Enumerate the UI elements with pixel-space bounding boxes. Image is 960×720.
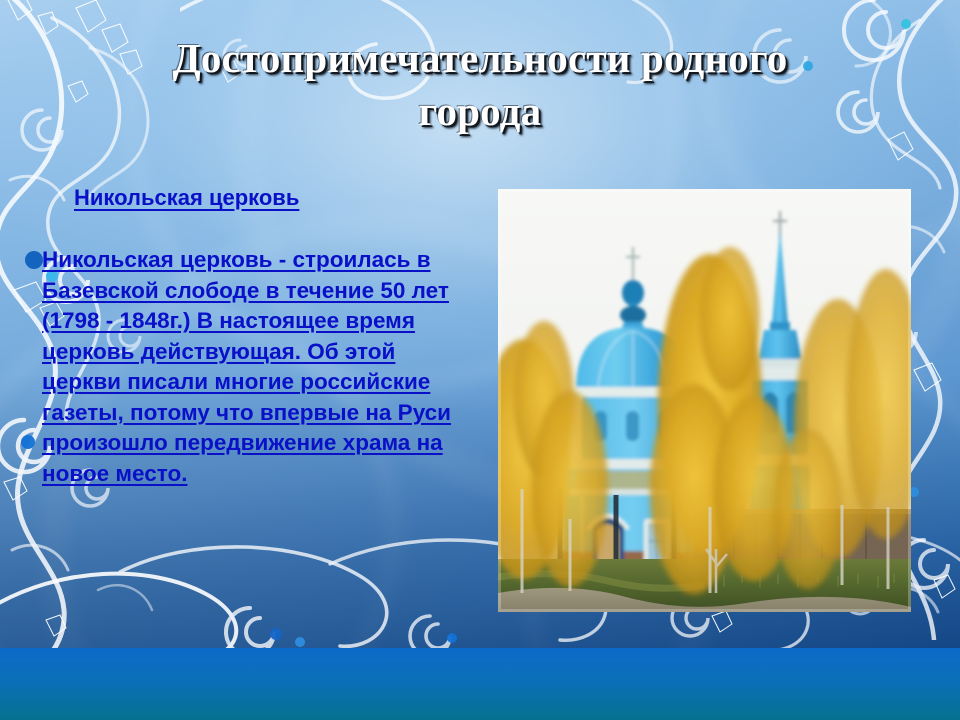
subheading-church-name[interactable]: Никольская церковь bbox=[74, 183, 299, 213]
slide-text-block: Никольская церковь Никольская церковь - … bbox=[42, 183, 472, 489]
church-photo-image bbox=[498, 189, 911, 612]
slide-title: Достопримечательности родного города bbox=[60, 32, 900, 138]
body-paragraph[interactable]: Никольская церковь - строилась в Базевск… bbox=[42, 245, 462, 489]
subheading-wrapper: Никольская церковь bbox=[42, 183, 472, 213]
church-photo[interactable] bbox=[498, 189, 911, 612]
footer-bar bbox=[0, 648, 960, 720]
presentation-slide: Достопримечательности родного города Ник… bbox=[0, 0, 960, 720]
